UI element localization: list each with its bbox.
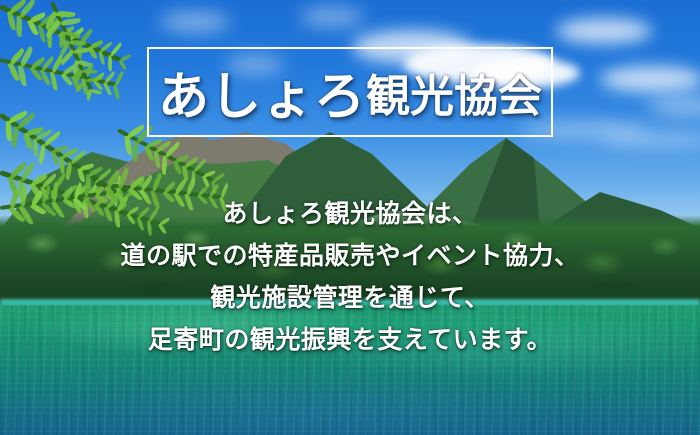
foliage-leaf — [114, 71, 125, 86]
description-line: 道の駅での特産品販売やイベント協力、 — [0, 235, 700, 277]
description-line: 足寄町の観光振興を支えています。 — [0, 319, 700, 361]
foliage-leaf — [74, 47, 92, 53]
foliage-leaf — [60, 18, 81, 25]
tourism-association-banner: あしょろ観光協会 あしょろ観光協会は、道の駅での特産品販売やイベント協力、観光施… — [0, 0, 700, 435]
description-text: あしょろ観光協会は、道の駅での特産品販売やイベント協力、観光施設管理を通じて、足… — [0, 193, 700, 361]
foliage-leaf — [18, 65, 26, 86]
cloud-shape — [556, 18, 652, 44]
foliage-leaf — [119, 59, 127, 71]
description-line: 観光施設管理を通じて、 — [0, 277, 700, 319]
cloud-shape — [300, 8, 364, 26]
page-title: あしょろ観光協会 — [147, 47, 553, 137]
title-kana: あしょろ — [158, 55, 366, 129]
title-kanji: 観光協会 — [366, 60, 542, 124]
foliage-leaf — [113, 84, 119, 99]
description-line: あしょろ観光協会は、 — [0, 193, 700, 235]
